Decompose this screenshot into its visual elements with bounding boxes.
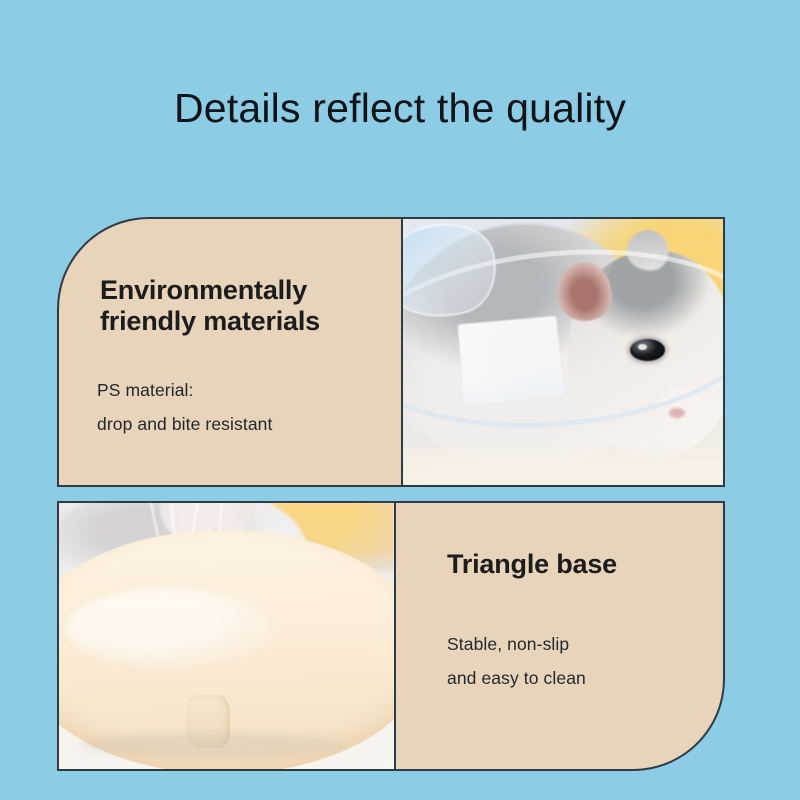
- promo-page: Details reflect the quality Environmenta…: [0, 0, 800, 800]
- feature-row-triangle-base: Triangle base Stable, non-slip and easy …: [57, 501, 725, 771]
- feature-row-environmentally-friendly: Environmentally friendly materials PS ma…: [57, 217, 725, 487]
- feature-text-panel-environmentally-friendly: Environmentally friendly materials PS ma…: [57, 217, 402, 487]
- feature-heading-triangle-base: Triangle base: [447, 549, 707, 580]
- base-drop-shadow: [79, 732, 347, 759]
- page-title: Details reflect the quality: [0, 86, 800, 131]
- feature-photo-hamster-in-bathhouse: [402, 217, 725, 487]
- feature-photo-bathhouse-base: [57, 501, 395, 771]
- feature-body-line: drop and bite resistant: [97, 408, 387, 442]
- feature-heading-environmentally-friendly: Environmentally friendly materials: [100, 275, 390, 337]
- feature-body-triangle-base: Stable, non-slip and easy to clean: [447, 628, 707, 695]
- photo-floor-gradient: [403, 448, 723, 485]
- feature-body-line: PS material:: [97, 374, 387, 408]
- base-bowl-highlight: [66, 588, 274, 668]
- bathhouse-base-with-leg-photo: [59, 503, 394, 769]
- feature-body-line: Stable, non-slip: [447, 628, 707, 662]
- feature-body-environmentally-friendly: PS material: drop and bite resistant: [97, 374, 387, 441]
- hamster-nose-shape: [669, 408, 685, 419]
- feature-text-panel-triangle-base: Triangle base Stable, non-slip and easy …: [395, 501, 725, 771]
- hamster-in-clear-bathhouse-photo: [403, 219, 723, 485]
- feature-body-line: and easy to clean: [447, 662, 707, 696]
